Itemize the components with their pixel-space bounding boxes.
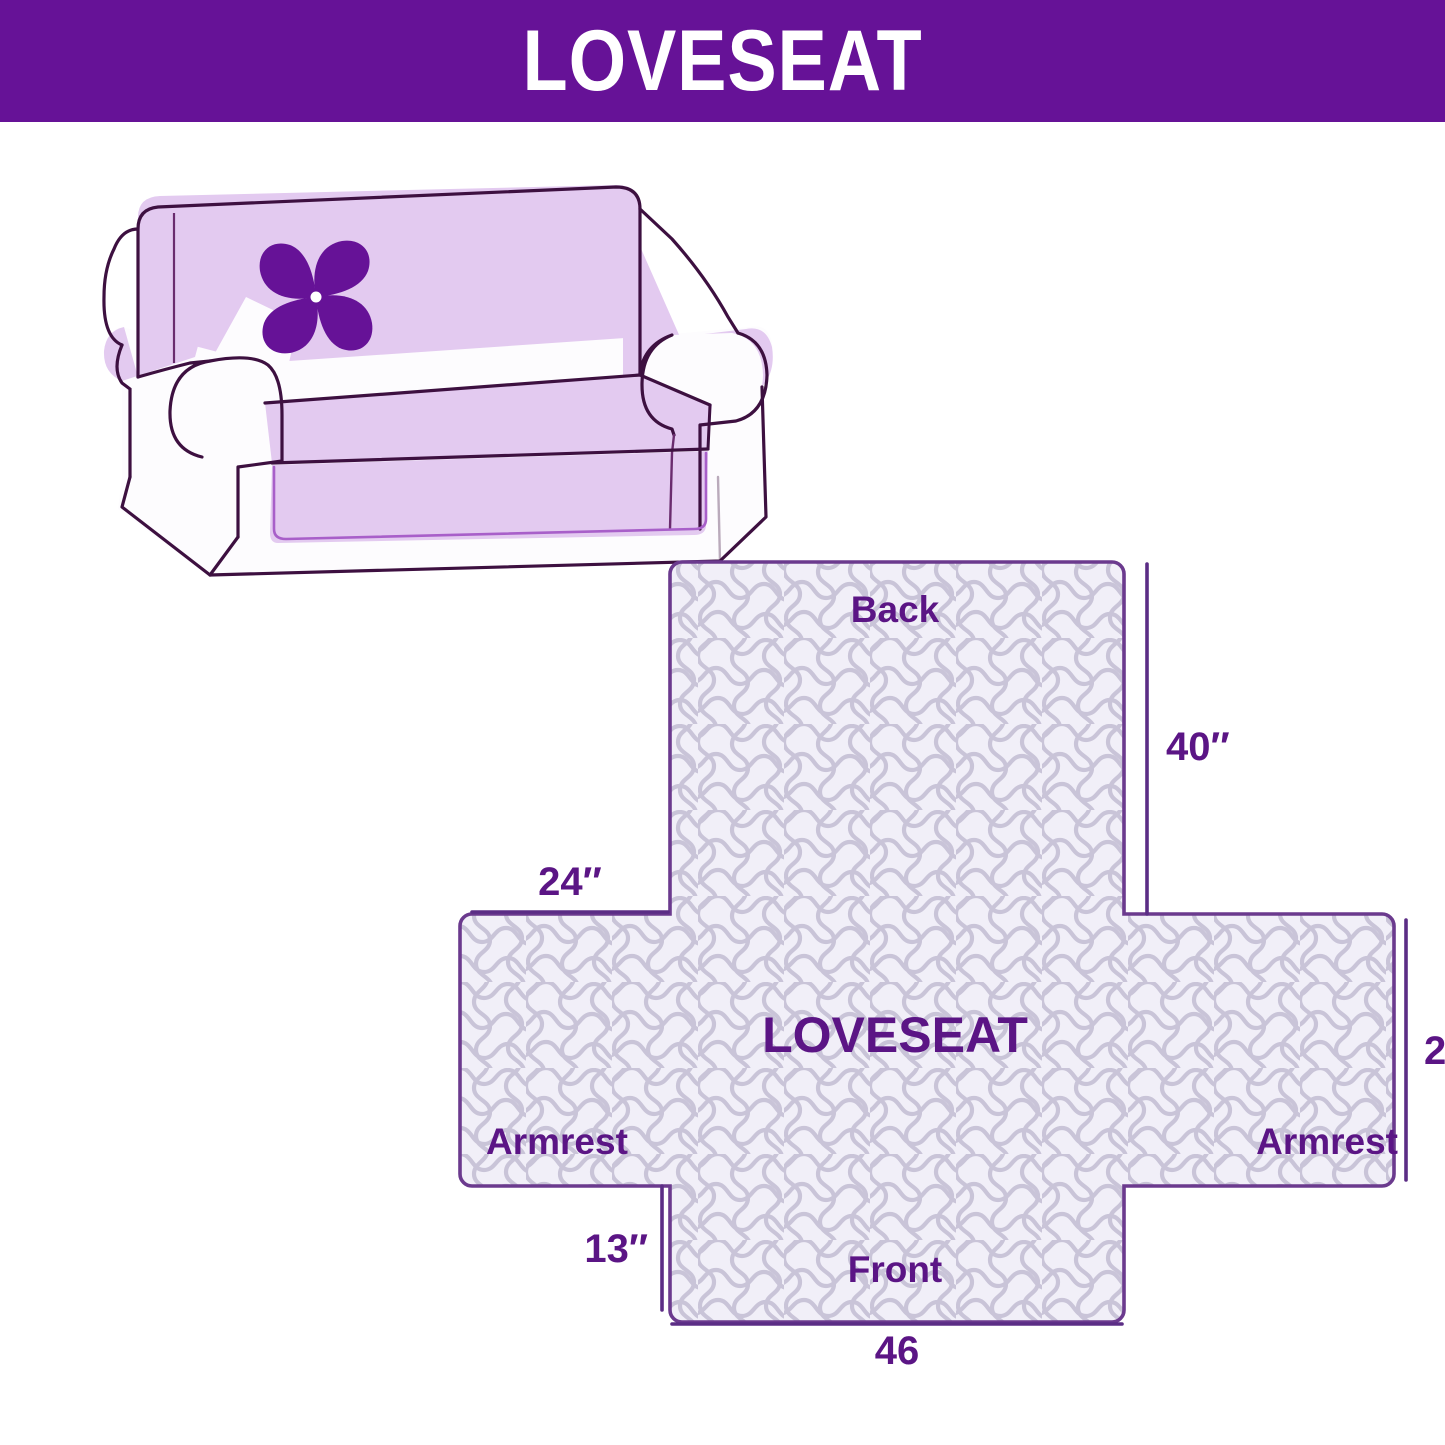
header-banner: LOVESEAT (0, 0, 1445, 122)
pattern-diagram-svg: Back LOVESEAT Armrest Armrest Front 40″ … (440, 552, 1445, 1352)
dimension-back-height: 40″ (1147, 564, 1230, 914)
diagram-stage: Back LOVESEAT Armrest Armrest Front 40″ … (0, 122, 1445, 1445)
pattern-shape-fill (460, 562, 1394, 1322)
fan-hub (311, 292, 322, 303)
sofa-seat-right-outline (708, 405, 710, 449)
dimension-label-24: 24″ (538, 860, 602, 904)
dimension-back-depth: 24″ (472, 860, 668, 912)
dimension-label-23: 23″ (1424, 1029, 1445, 1073)
label-armrest-left: Armrest (486, 1121, 628, 1162)
dimension-label-46: 46 (875, 1329, 920, 1373)
slipcover-pattern-diagram: Back LOVESEAT Armrest Armrest Front 40″ … (440, 552, 1445, 1352)
label-front: Front (848, 1249, 943, 1290)
dimension-seat-width: 46 (672, 1324, 1122, 1373)
dimension-front-depth: 13″ (584, 1186, 662, 1310)
dimension-armrest-drop: 23″ (1406, 920, 1445, 1180)
page-title: LOVESEAT (522, 18, 922, 104)
label-back: Back (851, 589, 940, 630)
label-armrest-right: Armrest (1256, 1121, 1398, 1162)
dimension-label-40: 40″ (1166, 725, 1230, 769)
label-loveseat-center: LOVESEAT (762, 1007, 1028, 1063)
dimension-label-13: 13″ (584, 1227, 648, 1271)
